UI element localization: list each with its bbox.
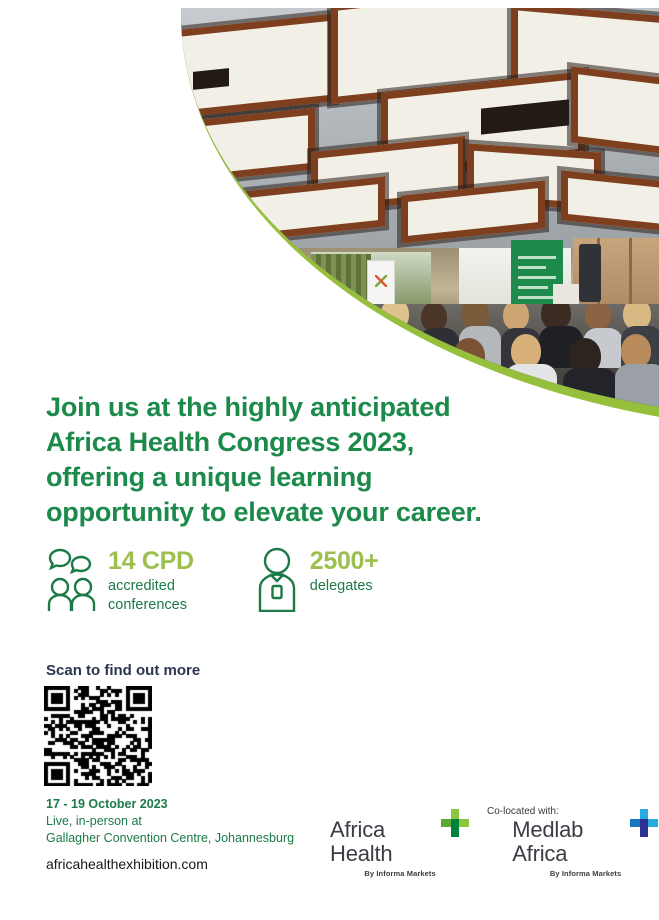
hero-photo	[181, 8, 659, 420]
logo-row: Africa Health By Informa Markets Medlab …	[330, 818, 659, 878]
logo-africa-health-name: Africa Health	[330, 818, 437, 866]
cross-pinwheel-icon	[629, 808, 659, 838]
stat-cpd-number: 14 CPD	[108, 548, 194, 574]
scan-title: Scan to find out more	[46, 662, 200, 679]
stat-delegates-label: delegates	[310, 577, 379, 596]
headline-line-4: opportunity to elevate your career.	[46, 495, 546, 530]
stat-cpd-label-line2: conferences	[108, 596, 194, 615]
colocated-label: Co-located with:	[487, 806, 559, 817]
headline-line-3: offering a unique learning	[46, 460, 546, 495]
poster: Join us at the highly anticipated Africa…	[0, 0, 659, 920]
logo-medlab-africa-name: Medlab Africa	[512, 818, 626, 866]
logo-africa-health-sub: By Informa Markets	[330, 869, 470, 878]
delegate-badge-person-icon	[254, 546, 300, 617]
event-url[interactable]: africahealthexhibition.com	[46, 856, 208, 872]
stat-cpd-label: accredited conferences	[108, 577, 194, 615]
stat-cpd: 14 CPD accredited conferences	[46, 546, 194, 617]
headline-line-1: Join us at the highly anticipated	[46, 390, 546, 425]
logo-africa-health[interactable]: Africa Health By Informa Markets	[330, 818, 470, 878]
stat-delegates-label-line1: delegates	[310, 577, 379, 596]
event-mode: Live, in-person at	[46, 813, 294, 830]
page-title: Join us at the highly anticipated Africa…	[46, 390, 546, 530]
stat-delegates-number: 2500+	[310, 548, 379, 574]
stat-delegates: 2500+ delegates	[254, 546, 379, 617]
headline-line-2: Africa Health Congress 2023,	[46, 425, 546, 460]
cross-pinwheel-icon	[440, 808, 470, 838]
speaker-person	[579, 244, 601, 302]
stat-cpd-label-line1: accredited	[108, 577, 194, 596]
event-venue: Gallagher Convention Centre, Johannesbur…	[46, 830, 294, 847]
qr-code[interactable]	[44, 686, 152, 786]
stats-row: 14 CPD accredited conferences 2500+	[46, 546, 466, 617]
logo-medlab-africa-sub: By Informa Markets	[512, 869, 659, 878]
event-info: 17 - 19 October 2023 Live, in-person at …	[46, 796, 294, 847]
event-date: 17 - 19 October 2023	[46, 796, 294, 813]
ceiling	[181, 8, 659, 256]
speech-bubbles-people-icon	[46, 546, 98, 617]
logo-medlab-africa[interactable]: Medlab Africa By Informa Markets	[512, 818, 659, 878]
